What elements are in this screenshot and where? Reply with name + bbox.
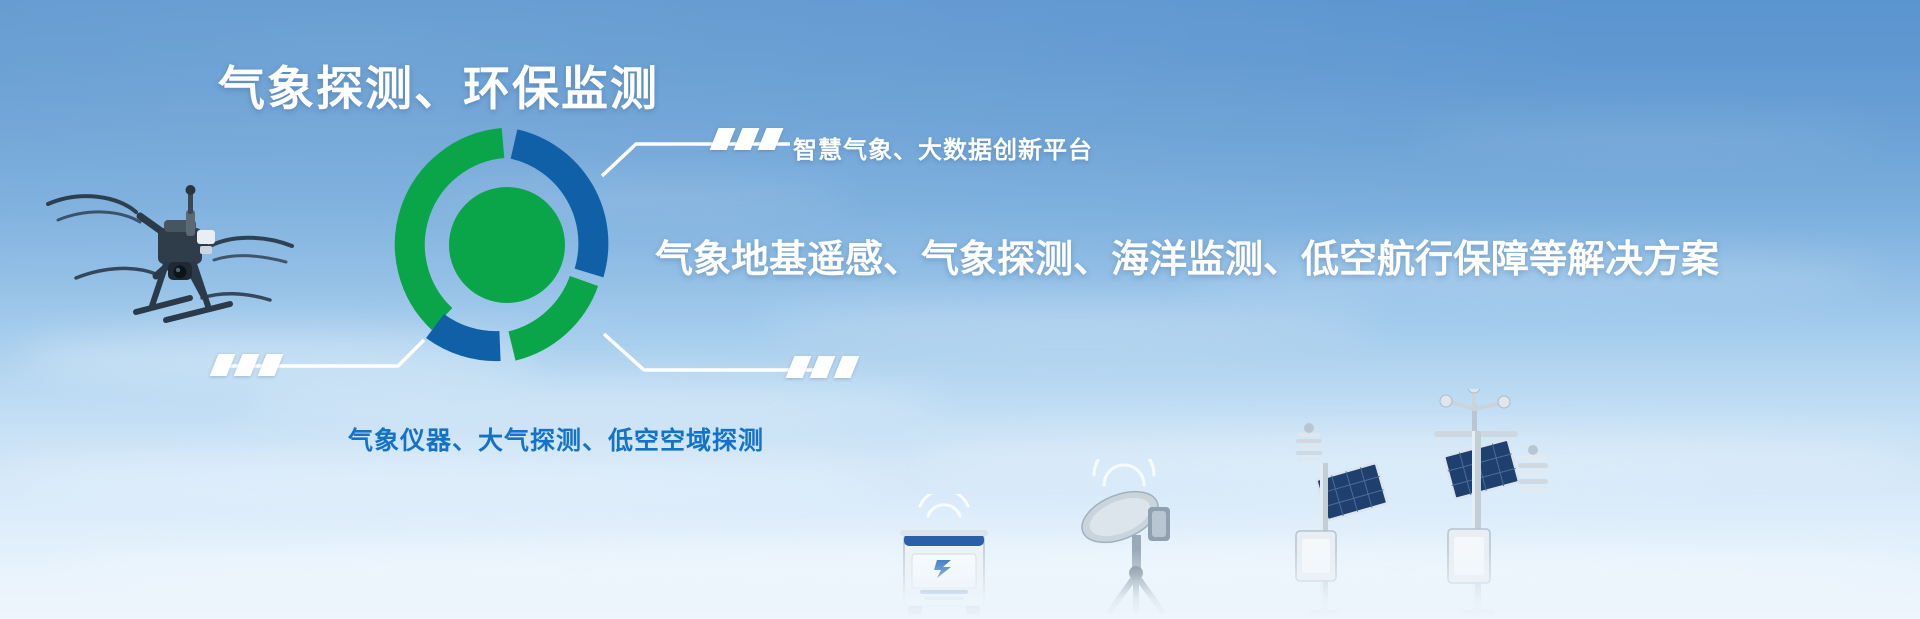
automatic-weather-station-icon	[1420, 389, 1560, 619]
satellite-dish-icon	[1070, 459, 1190, 619]
tagline-smart-meteorology: 智慧气象、大数据创新平台	[793, 130, 1093, 165]
slash-marks-left	[214, 354, 279, 376]
cloud-streak	[1420, 120, 1880, 156]
tagline-instruments: 气象仪器、大气探测、低空空域探测	[348, 421, 764, 457]
page-title: 气象探测、环保监测	[218, 50, 659, 119]
slash-marks-bottom-right	[790, 356, 855, 378]
cloud-streak	[0, 452, 900, 498]
cloud-streak	[760, 300, 1380, 344]
drone-icon	[40, 150, 300, 350]
slash-marks-top	[714, 128, 779, 150]
weather-detection-banner: 气象探测、环保监测	[0, 0, 1920, 619]
ring-logo	[390, 128, 624, 362]
ring-arc-blue-bottom	[435, 326, 500, 346]
ring-logo-svg	[390, 128, 624, 362]
laser-radar-cabinet-icon	[890, 494, 1000, 619]
ring-center-disc	[449, 187, 565, 303]
solar-weather-station-icon	[1280, 419, 1390, 619]
tagline-solutions: 气象地基遥感、气象探测、海洋监测、低空航行保障等解决方案	[655, 228, 1719, 283]
cloud-streak	[900, 430, 1920, 482]
